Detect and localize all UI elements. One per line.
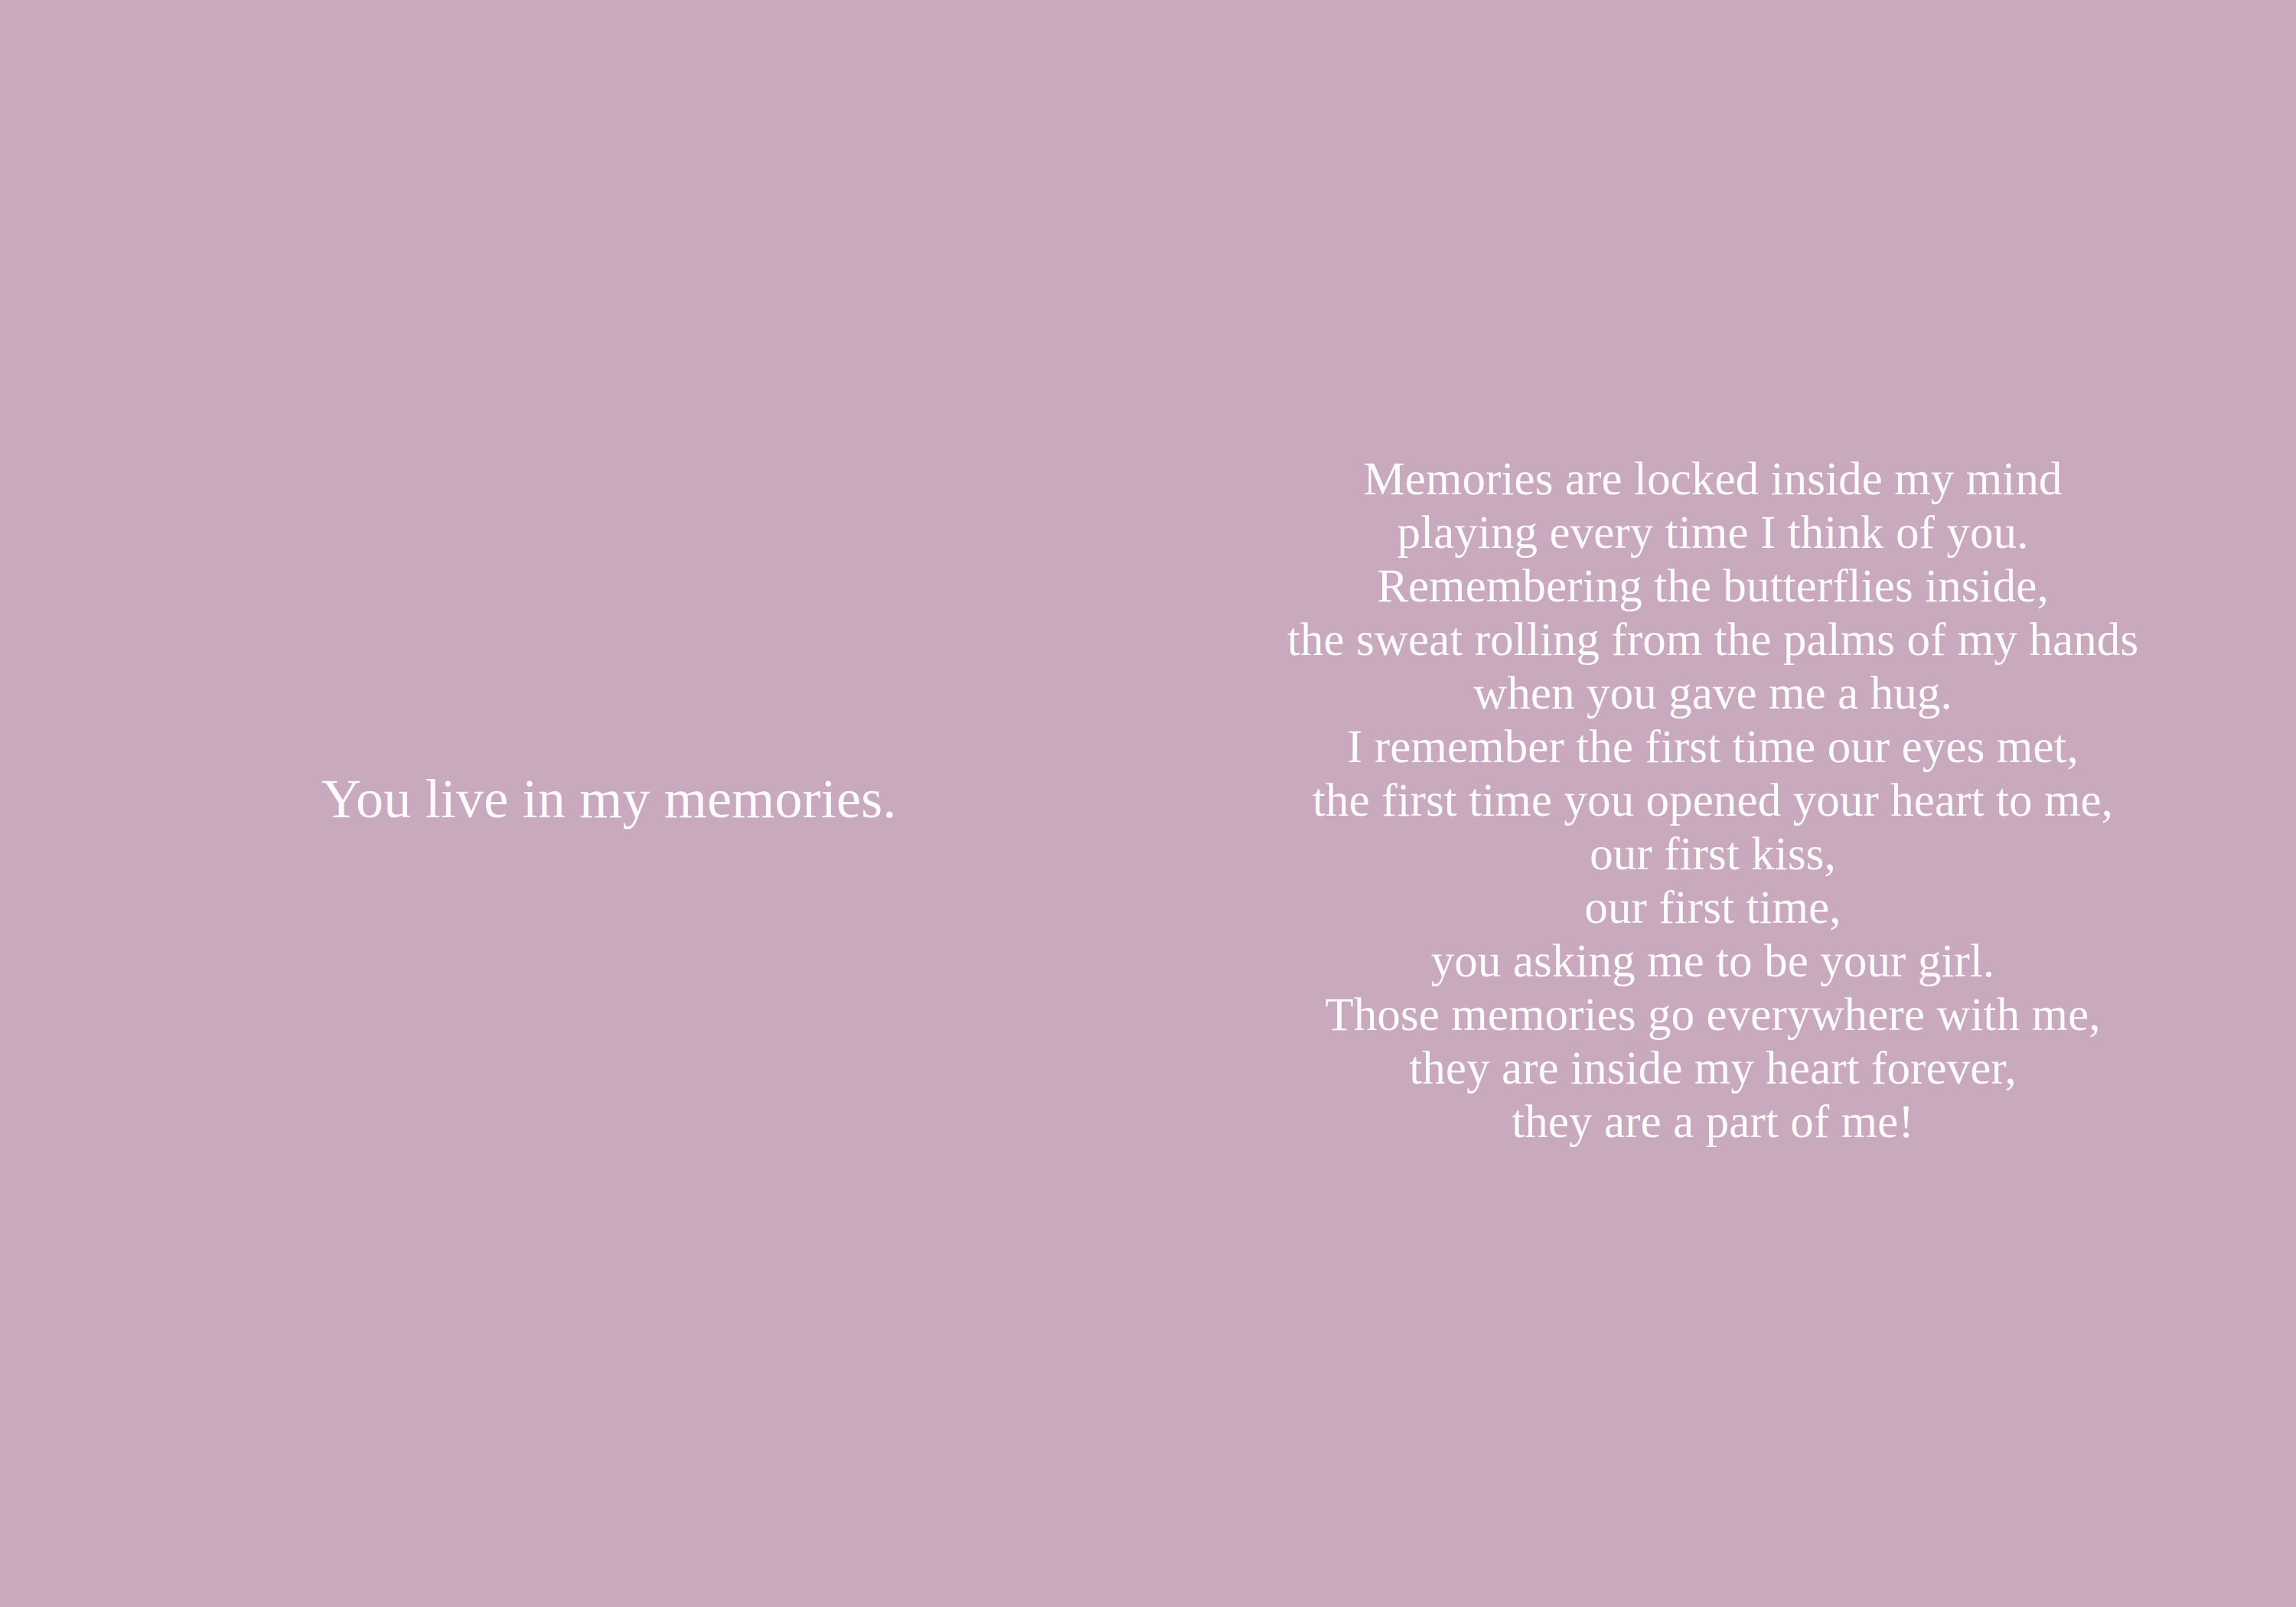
poem-line: you asking me to be your girl.	[1215, 935, 2210, 989]
poem-line: the first time you opened your heart to …	[1215, 774, 2210, 828]
poetry-page: You live in my memories. Memories are lo…	[0, 0, 2296, 1607]
poem-line: they are a part of me!	[1215, 1096, 2210, 1149]
poem-line: Those memories go everywhere with me,	[1215, 989, 2210, 1042]
poem-line: Remembering the butterflies inside,	[1215, 560, 2210, 614]
title-block: You live in my memories.	[321, 771, 1163, 826]
poem-line: our first kiss,	[1215, 828, 2210, 882]
poem-line: the sweat rolling from the palms of my h…	[1215, 614, 2210, 667]
poem-line: they are inside my heart forever,	[1215, 1042, 2210, 1096]
poem-line: Memories are locked inside my mind	[1215, 453, 2210, 507]
poem-line: playing every time I think of you.	[1215, 507, 2210, 560]
poem-block: Memories are locked inside my mind playi…	[1215, 453, 2210, 1149]
poem-line: I remember the first time our eyes met,	[1215, 721, 2210, 774]
poem-line: when you gave me a hug.	[1215, 667, 2210, 721]
page-title: You live in my memories.	[321, 771, 1163, 826]
poem-line: our first time,	[1215, 882, 2210, 935]
